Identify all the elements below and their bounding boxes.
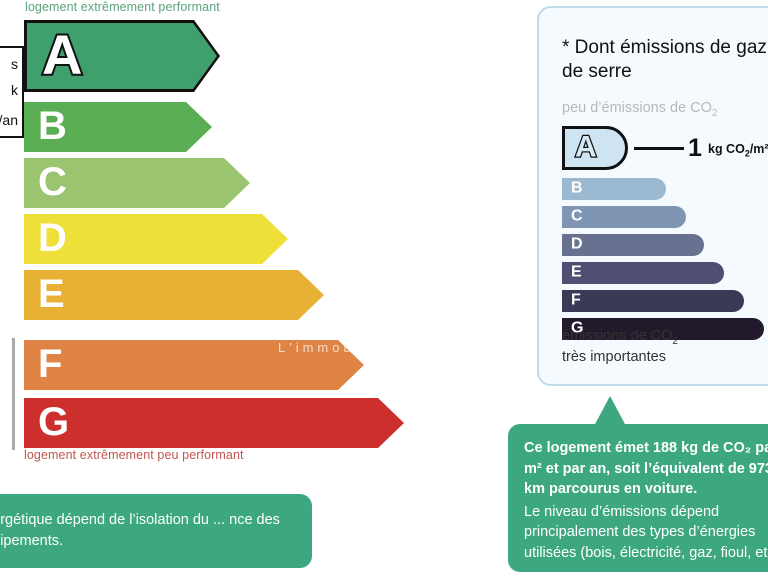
callout-co2-note: Ce logement émet 188 kg de CO₂ par m² et… [508,424,768,572]
callout-energy-note-text: énergétique dépend de l’isolation du ...… [0,512,280,549]
energy-caption-bottom: logement extrêmement peu performant [24,448,244,462]
energy-value-line-2: k [11,82,18,98]
callout-co2-note-text: Le niveau d’émissions dépend principalem… [524,502,768,564]
co2-unit-rest: /m²/an [750,142,768,156]
energy-bar-d-letter: D [38,218,67,258]
co2-leader-line [634,147,684,150]
energy-bar-c-letter: C [38,162,67,202]
energy-bar-f-shape [24,340,364,390]
co2-bar-e[interactable]: E [562,262,724,284]
energy-value-box: s k /an [0,46,24,138]
co2-bar-a-letter: A [575,132,597,162]
co2-unit-text: kg CO [708,142,745,156]
co2-bar-f[interactable]: F [562,290,744,312]
co2-bar-d-letter: D [571,237,583,253]
co2-caption-bottom-line2: très importantes [562,349,666,365]
callout-energy-note: énergétique dépend de l’isolation du ...… [0,494,312,568]
energy-bar-a-letter: A [42,27,82,83]
energy-bar-e[interactable]: E [24,270,324,320]
energy-bar-f[interactable]: F [24,340,364,390]
energy-bar-b-letter: B [38,106,67,146]
co2-unit: kg CO2/m²/an [708,142,768,159]
co2-panel: * Dont émissions de gaz à effet de serre… [537,6,768,386]
energy-bar-e-letter: E [38,274,65,314]
scale-side-rule [12,338,15,450]
co2-bar-c-letter: C [571,209,583,225]
co2-subscript-bottom: 2 [672,336,678,347]
energy-bar-a[interactable]: A [24,20,220,92]
energy-bar-g[interactable]: G [24,398,404,448]
co2-bar-b[interactable]: B [562,178,666,200]
energy-value-line-1: s [11,56,18,72]
dpe-screenshot: logement extrêmement performant A B C [0,0,768,576]
co2-caption-bottom-text: émissions de CO [562,328,672,344]
energy-bar-f-letter: F [38,344,62,384]
co2-bar-f-letter: F [571,293,581,309]
co2-bar-d[interactable]: D [562,234,704,256]
energy-bar-g-shape [24,398,404,448]
energy-caption-top: logement extrêmement performant [25,0,220,14]
co2-scale-caption-top-text: peu d’émissions de CO [562,100,712,116]
energy-bar-d[interactable]: D [24,214,288,264]
co2-bar-e-letter: E [571,265,582,281]
callout-co2-note-bold: Ce logement émet 188 kg de CO₂ par m² et… [524,438,768,500]
energy-bar-g-letter: G [38,402,69,442]
co2-value: 1 [688,136,702,161]
co2-scale-caption-top: peu d’émissions de CO2 [562,100,717,119]
co2-bar-c[interactable]: C [562,206,686,228]
co2-scale-caption-bottom: émissions de CO2 très importantes [562,327,678,367]
co2-bar-b-letter: B [571,181,583,197]
co2-bar-a[interactable]: A [562,126,628,170]
co2-panel-title: * Dont émissions de gaz à effet de serre [562,36,768,84]
co2-subscript-top: 2 [712,108,718,119]
energy-bar-e-shape [24,270,324,320]
energy-bar-b[interactable]: B [24,102,212,152]
energy-bar-c[interactable]: C [24,158,250,208]
energy-bar-stack: A B C D E [0,20,420,450]
energy-value-line-3: /an [0,112,18,128]
callout-pointer [594,396,626,426]
